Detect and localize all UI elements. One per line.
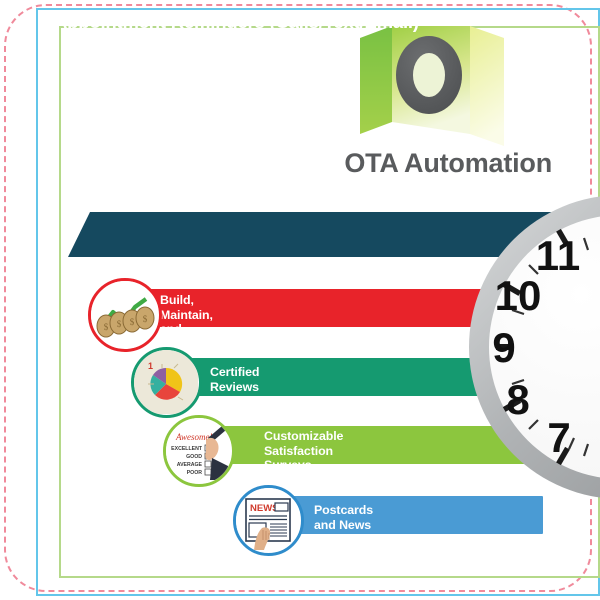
coins-growth-chart-icon: $$ $$ bbox=[88, 278, 162, 352]
pie-chart-icon: 1 bbox=[131, 347, 202, 418]
svg-text:$: $ bbox=[104, 322, 109, 332]
newspaper-icon: NEWS bbox=[233, 485, 304, 556]
svg-text:1: 1 bbox=[148, 361, 153, 371]
svg-text:$: $ bbox=[130, 317, 135, 327]
header-title: Appointment Reminders (Calls/Text/Email) bbox=[54, 11, 419, 33]
brand-logo bbox=[352, 22, 552, 152]
brand-name: OTA Automation bbox=[200, 148, 552, 179]
svg-text:GOOD: GOOD bbox=[186, 454, 202, 460]
svg-text:7: 7 bbox=[547, 414, 570, 461]
svg-text:EXCELLENT: EXCELLENT bbox=[171, 446, 203, 452]
svg-text:POOR: POOR bbox=[187, 470, 203, 476]
svg-text:$: $ bbox=[143, 314, 148, 324]
slide-canvas: OTA Automation Appointment Reminders (Ca… bbox=[0, 0, 600, 600]
svg-text:AVERAGE: AVERAGE bbox=[177, 462, 203, 468]
svg-text:$: $ bbox=[117, 319, 122, 329]
satisfaction-survey-checklist-icon: Awesome!! EXCELLENT GOOD AVERAGE POOR bbox=[163, 415, 235, 487]
header-banner bbox=[68, 212, 600, 257]
svg-text:NEWS: NEWS bbox=[250, 503, 279, 514]
feature-label: Postcards and News Letters bbox=[314, 503, 373, 547]
folded-banner-logo-icon bbox=[352, 22, 552, 152]
